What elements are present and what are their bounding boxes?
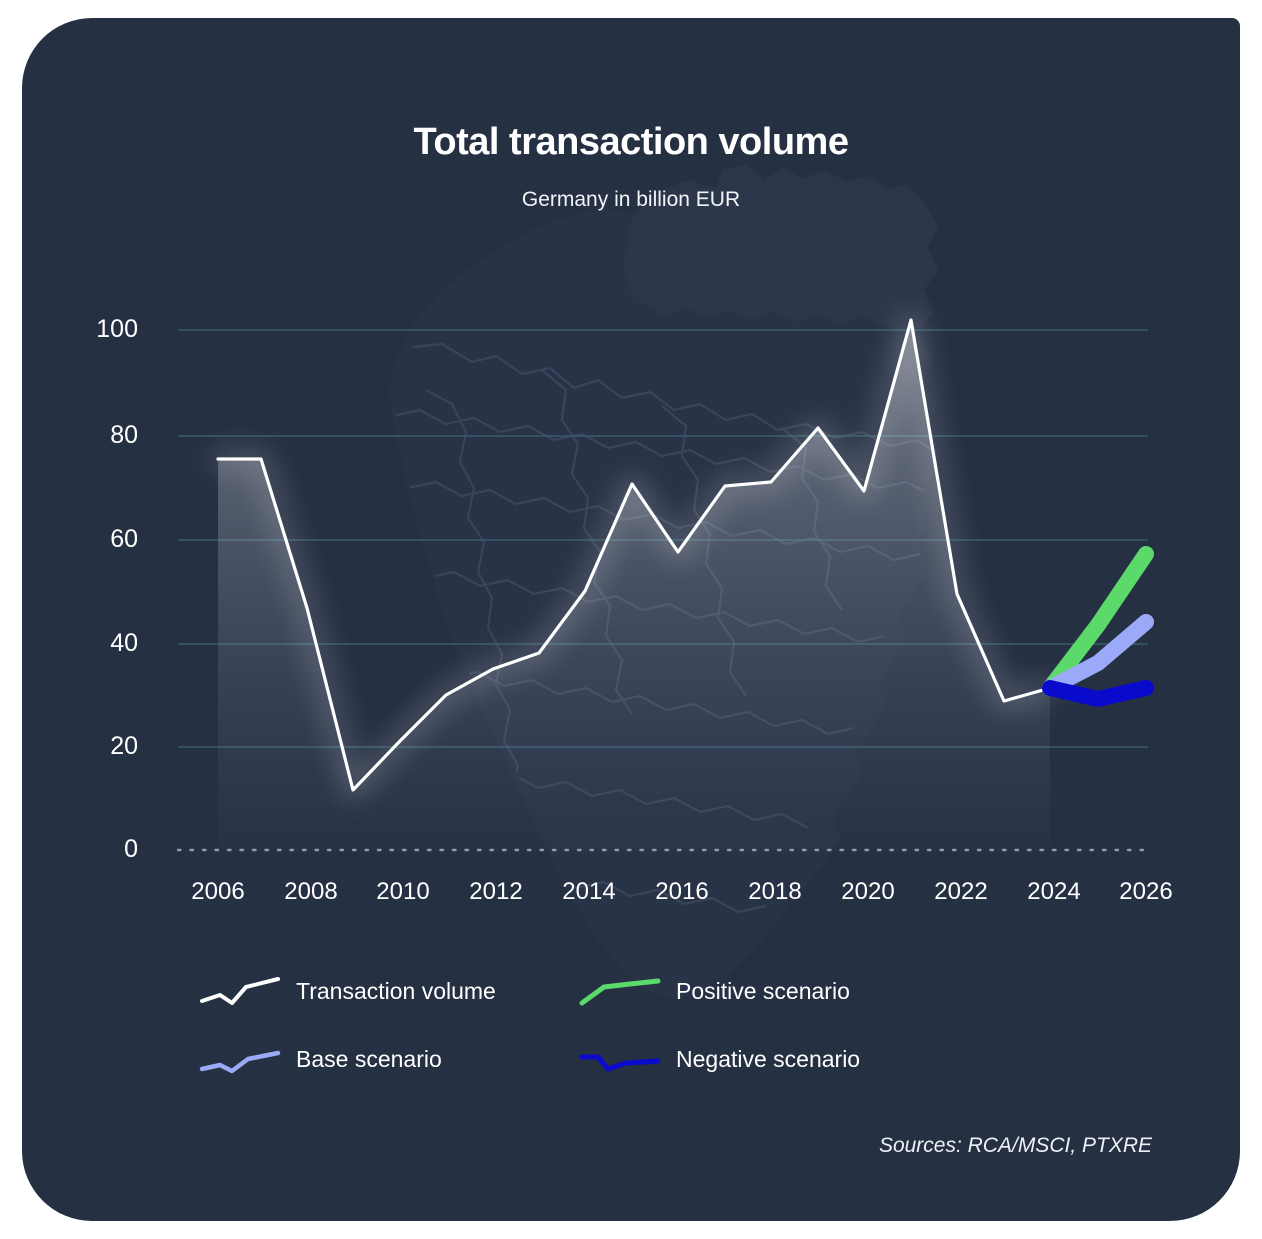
legend-item-transaction-volume[interactable]: Transaction volume (198, 973, 578, 1009)
legend-label: Base scenario (296, 1046, 442, 1073)
x-tick-label: 2022 (911, 878, 1011, 906)
line-swatch-icon (198, 973, 282, 1009)
x-tick-label: 2010 (353, 878, 453, 906)
y-tick-label: 80 (78, 421, 138, 450)
legend-item-base-scenario[interactable]: Base scenario (198, 1041, 578, 1077)
page-title: Total transaction volume (22, 121, 1240, 164)
chart-card: Total transaction volume Germany in bill… (22, 18, 1240, 1221)
y-tick-label: 0 (78, 835, 138, 864)
line-swatch-icon (578, 1041, 662, 1077)
line-swatch-icon (198, 1041, 282, 1077)
y-tick-label: 100 (78, 315, 138, 344)
x-tick-label: 2020 (818, 878, 918, 906)
line-swatch-icon (578, 973, 662, 1009)
negative-scenario-line (1050, 688, 1146, 699)
x-tick-label: 2012 (446, 878, 546, 906)
legend-label: Positive scenario (676, 978, 850, 1005)
legend-label: Negative scenario (676, 1046, 860, 1073)
legend-label: Transaction volume (296, 978, 496, 1005)
y-tick-label: 40 (78, 629, 138, 658)
chart-legend: Transaction volume Positive scenario Bas… (198, 973, 958, 1077)
x-tick-label: 2018 (725, 878, 825, 906)
legend-item-negative-scenario[interactable]: Negative scenario (578, 1041, 958, 1077)
x-tick-label: 2026 (1096, 878, 1196, 906)
x-tick-label: 2014 (539, 878, 639, 906)
sources-note: Sources: RCA/MSCI, PTXRE (879, 1134, 1152, 1158)
x-tick-label: 2024 (1004, 878, 1104, 906)
y-tick-label: 60 (78, 525, 138, 554)
legend-item-positive-scenario[interactable]: Positive scenario (578, 973, 958, 1009)
x-tick-label: 2016 (632, 878, 732, 906)
x-tick-label: 2006 (168, 878, 268, 906)
x-tick-label: 2008 (261, 878, 361, 906)
chart-subtitle: Germany in billion EUR (22, 188, 1240, 212)
y-tick-label: 20 (78, 732, 138, 761)
